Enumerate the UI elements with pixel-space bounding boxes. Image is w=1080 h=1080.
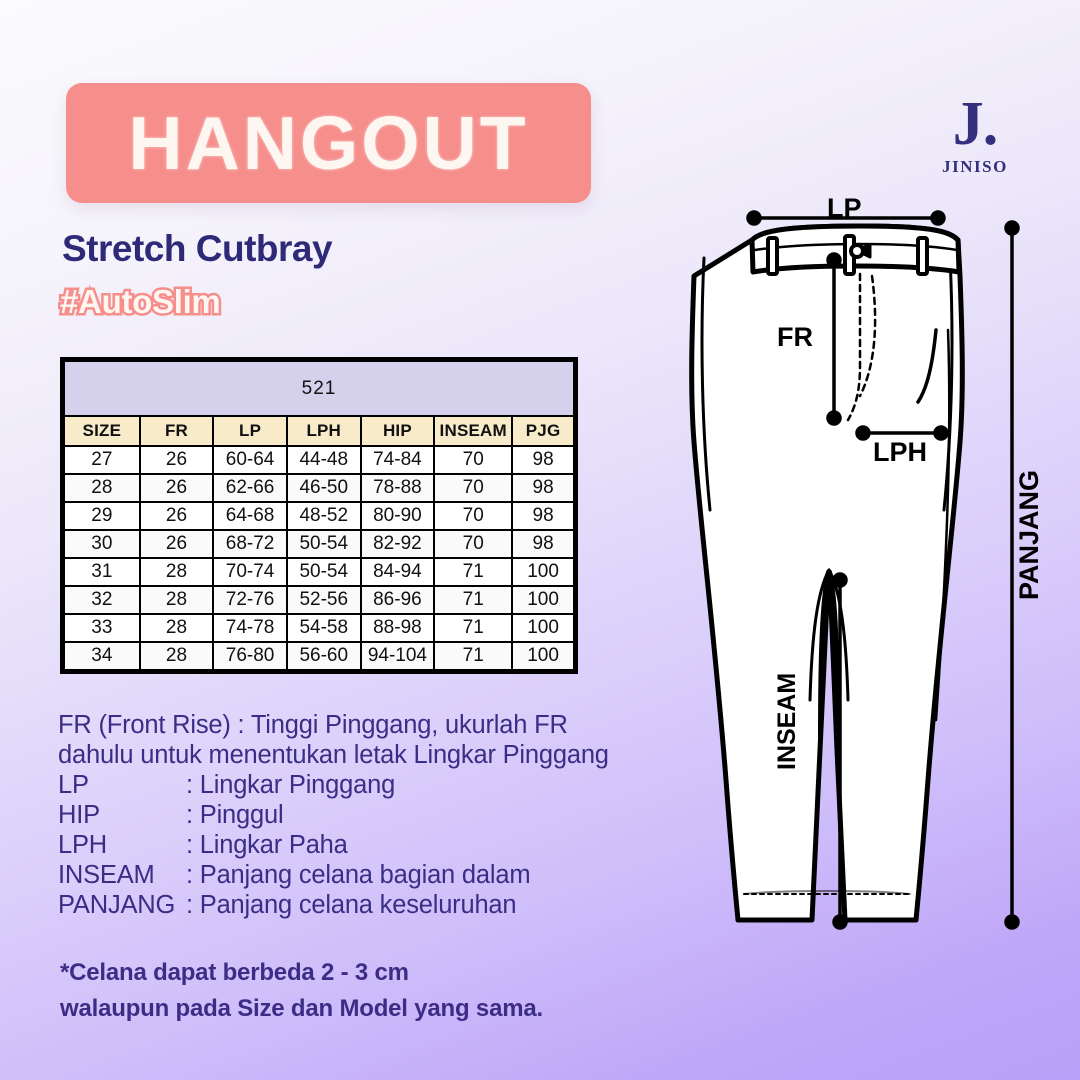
legend-panjang-row: PANJANG: Panjang celana keseluruhan [58,890,698,920]
measurement-legend: FR (Front Rise) : Tinggi Pinggang, ukurl… [58,710,698,920]
cell-hip: 74-84 [361,446,435,474]
cell-size: 27 [64,446,140,474]
pants-measurement-diagram [660,180,1060,950]
cell-size: 33 [64,614,140,642]
table-row: 31 28 70-74 50-54 84-94 71 100 [64,558,574,586]
legend-lph-row: LPH: Lingkar Paha [58,830,698,860]
legend-inseam-value: : Panjang celana bagian dalam [186,861,530,889]
table-row: 29 26 64-68 48-52 80-90 70 98 [64,502,574,530]
cell-lph: 50-54 [287,530,361,558]
table-row: 28 26 62-66 46-50 78-88 70 98 [64,474,574,502]
cell-size: 29 [64,502,140,530]
legend-hip-value: : Pinggul [186,801,283,829]
title-banner: HANGOUT [66,83,591,203]
cell-hip: 88-98 [361,614,435,642]
cell-hip: 82-92 [361,530,435,558]
legend-panjang-key: PANJANG [58,890,186,920]
cell-inseam: 71 [434,614,512,642]
banner-title: HANGOUT [128,106,528,181]
cell-inseam: 71 [434,586,512,614]
jiniso-j-icon: J. [920,95,1030,153]
cell-lp: 68-72 [213,530,287,558]
table-row: 30 26 68-72 50-54 82-92 70 98 [64,530,574,558]
cell-size: 32 [64,586,140,614]
table-model-number: 521 [64,361,574,416]
product-hashtag: #AutoSlim [60,283,220,321]
cell-lph: 50-54 [287,558,361,586]
table-row: 27 26 60-64 44-48 74-84 70 98 [64,446,574,474]
dimension-label-panjang: PANJANG [1014,470,1045,600]
cell-inseam: 70 [434,446,512,474]
column-header-inseam: INSEAM [434,416,512,446]
legend-hip-key: HIP [58,800,186,830]
legend-inseam-key: INSEAM [58,860,186,890]
column-header-lph: LPH [287,416,361,446]
table-row: 34 28 76-80 56-60 94-104 71 100 [64,642,574,670]
table-header-row: SIZE FR LP LPH HIP INSEAM PJG [64,416,574,446]
brand-logo: J. JINISO [920,95,1030,177]
table-row: 32 28 72-76 52-56 86-96 71 100 [64,586,574,614]
cell-size: 31 [64,558,140,586]
cell-pjg: 98 [512,530,574,558]
legend-fr-line2: dahulu untuk menentukan letak Lingkar Pi… [58,740,698,770]
cell-hip: 86-96 [361,586,435,614]
cell-pjg: 100 [512,614,574,642]
cell-pjg: 100 [512,642,574,670]
disclaimer-line1: *Celana dapat berbeda 2 - 3 cm [60,955,680,991]
cell-inseam: 70 [434,530,512,558]
cell-fr: 28 [140,558,214,586]
cell-lp: 76-80 [213,642,287,670]
cell-pjg: 100 [512,558,574,586]
cell-pjg: 98 [512,502,574,530]
table-row: 33 28 74-78 54-58 88-98 71 100 [64,614,574,642]
legend-lp-key: LP [58,770,186,800]
cell-size: 34 [64,642,140,670]
column-header-hip: HIP [361,416,435,446]
cell-lp: 72-76 [213,586,287,614]
brand-name: JINISO [920,157,1030,177]
dimension-label-inseam: INSEAM [773,673,802,770]
cell-lph: 48-52 [287,502,361,530]
column-header-pjg: PJG [512,416,574,446]
cell-lph: 52-56 [287,586,361,614]
cell-fr: 26 [140,530,214,558]
column-header-size: SIZE [64,416,140,446]
cell-inseam: 71 [434,558,512,586]
dimension-label-lph: LPH [873,437,927,468]
cell-fr: 26 [140,502,214,530]
cell-inseam: 70 [434,474,512,502]
disclaimer-note: *Celana dapat berbeda 2 - 3 cm walaupun … [60,955,680,1027]
cell-lp: 70-74 [213,558,287,586]
cell-pjg: 100 [512,586,574,614]
cell-lp: 74-78 [213,614,287,642]
cell-lph: 44-48 [287,446,361,474]
cell-size: 28 [64,474,140,502]
left-content-column: HANGOUT Stretch Cutbray #AutoSlim 521 SI… [0,0,700,1080]
cell-lph: 46-50 [287,474,361,502]
cell-pjg: 98 [512,446,574,474]
cell-lph: 56-60 [287,642,361,670]
cell-fr: 26 [140,446,214,474]
cell-inseam: 70 [434,502,512,530]
dimension-label-fr: FR [777,322,813,353]
cell-fr: 28 [140,586,214,614]
product-subtitle: Stretch Cutbray [62,228,332,270]
cell-lp: 64-68 [213,502,287,530]
cell-hip: 80-90 [361,502,435,530]
cell-hip: 84-94 [361,558,435,586]
cell-hip: 94-104 [361,642,435,670]
cell-size: 30 [64,530,140,558]
legend-lp-row: LP: Lingkar Pinggang [58,770,698,800]
legend-lph-key: LPH [58,830,186,860]
legend-panjang-value: : Panjang celana keseluruhan [186,891,516,919]
legend-hip-row: HIP: Pinggul [58,800,698,830]
column-header-lp: LP [213,416,287,446]
cell-fr: 26 [140,474,214,502]
cell-fr: 28 [140,642,214,670]
cell-lph: 54-58 [287,614,361,642]
cell-lp: 62-66 [213,474,287,502]
cell-inseam: 71 [434,642,512,670]
legend-inseam-row: INSEAM: Panjang celana bagian dalam [58,860,698,890]
size-chart-table: 521 SIZE FR LP LPH HIP INSEAM PJG 27 26 [60,357,578,674]
cell-pjg: 98 [512,474,574,502]
dimension-label-lp: LP [827,193,862,224]
measurement-arrows [660,180,1060,950]
legend-lp-value: : Lingkar Pinggang [186,771,395,799]
cell-lp: 60-64 [213,446,287,474]
legend-fr-line1: FR (Front Rise) : Tinggi Pinggang, ukurl… [58,710,698,740]
cell-fr: 28 [140,614,214,642]
disclaimer-line2: walaupun pada Size dan Model yang sama. [60,991,680,1027]
column-header-fr: FR [140,416,214,446]
legend-lph-value: : Lingkar Paha [186,831,348,859]
cell-hip: 78-88 [361,474,435,502]
